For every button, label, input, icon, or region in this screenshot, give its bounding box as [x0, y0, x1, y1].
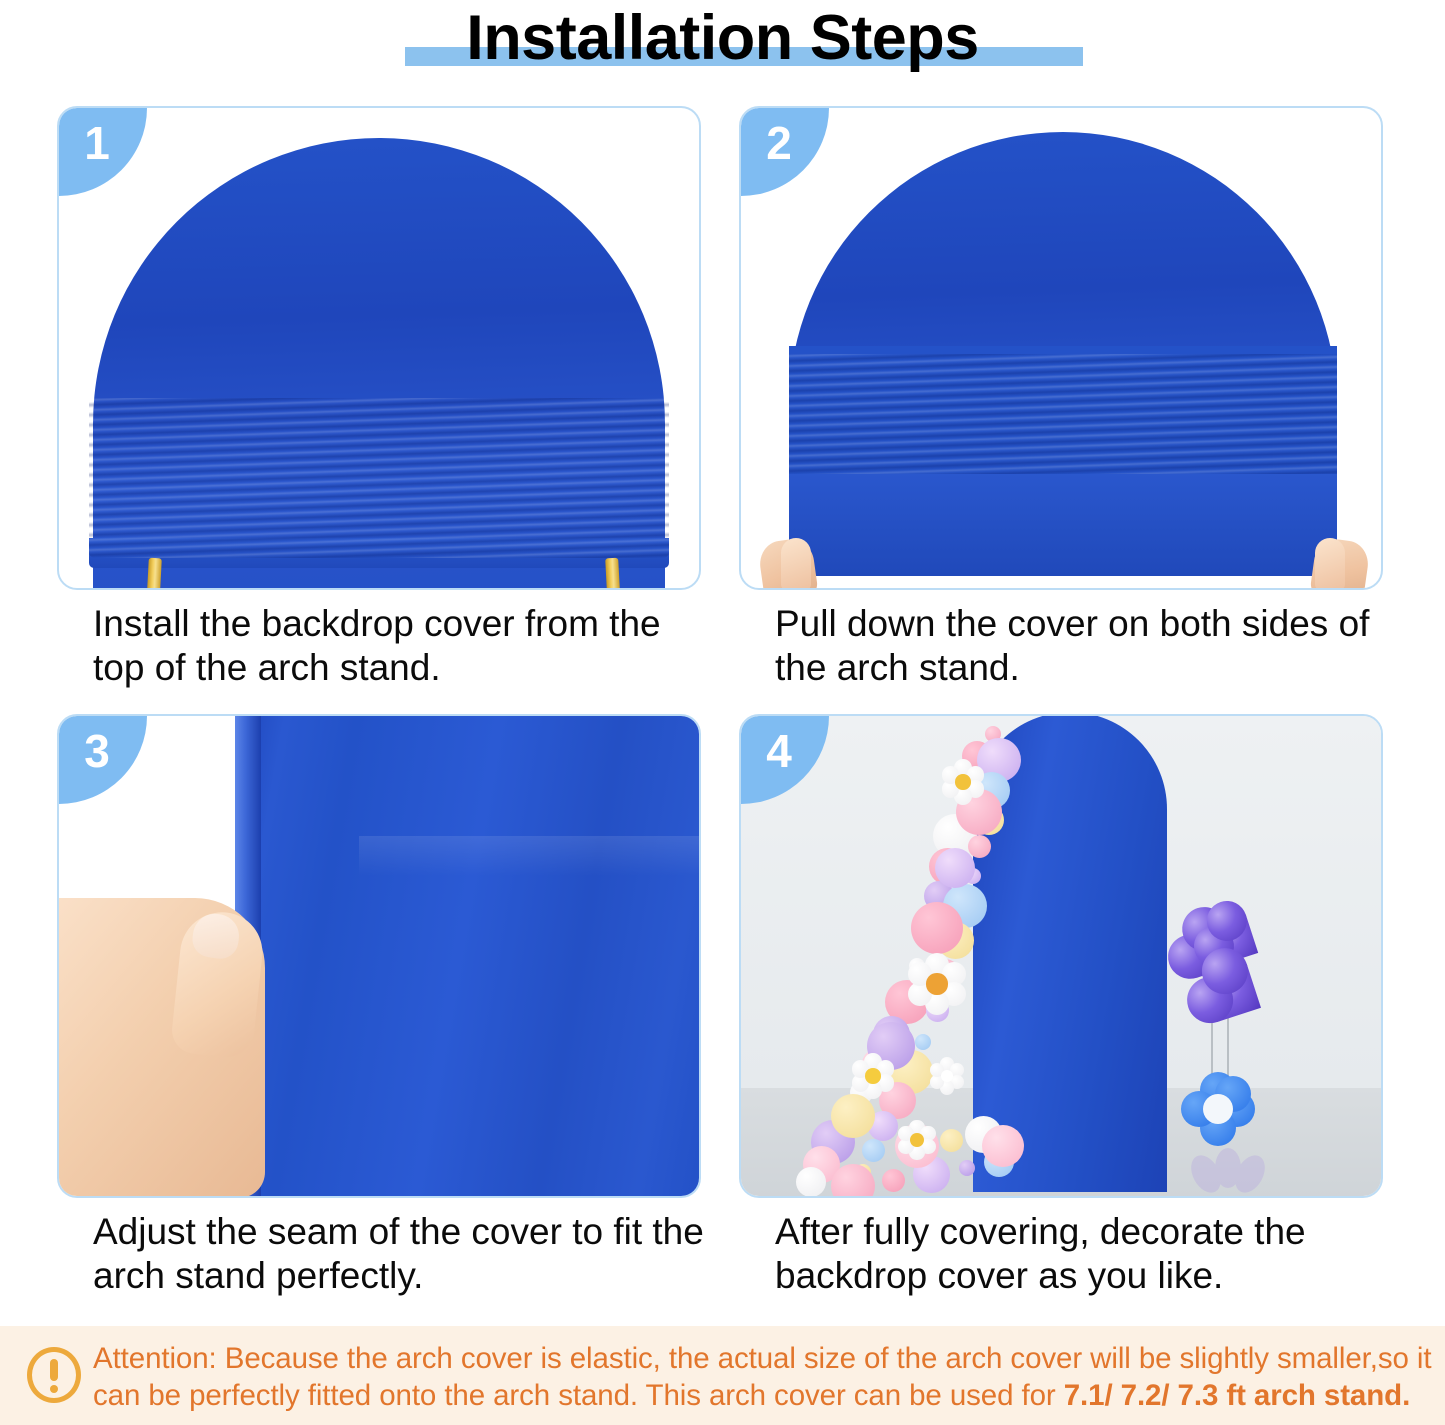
attention-banner: Attention: Because the arch cover is ela… — [0, 1326, 1445, 1425]
step-card-3: 3 Adjust the seam of the cover to fit th… — [57, 714, 705, 1306]
blue-flower-balloon — [1181, 1072, 1255, 1146]
steps-grid: 1 Install the backdrop cover from the to… — [57, 106, 1387, 1306]
fabric-fold — [359, 836, 699, 876]
faded-petal-shadow — [1193, 1148, 1263, 1196]
step-1-photo — [59, 108, 699, 588]
balloon-large — [982, 1125, 1024, 1167]
balloon — [915, 1034, 931, 1050]
balloon — [940, 1129, 963, 1152]
balloon — [862, 1139, 885, 1162]
step-card-1: 1 Install the backdrop cover from the to… — [57, 106, 705, 698]
step-number-2: 2 — [755, 110, 803, 176]
step-number-1: 1 — [73, 110, 121, 176]
cover-fabric — [235, 716, 699, 1196]
balloon-large — [911, 902, 963, 954]
step-4-photo — [741, 716, 1381, 1196]
step-3-caption: Adjust the seam of the cover to fit the … — [93, 1210, 708, 1298]
thumb-left — [781, 538, 811, 588]
arch-cover-hem — [89, 538, 669, 568]
step-3-image-frame: 3 — [57, 714, 701, 1198]
attention-text: Attention: Because the arch cover is ela… — [93, 1340, 1435, 1414]
page-title: Installation Steps — [0, 0, 1445, 76]
balloon-large — [831, 1094, 875, 1138]
step-4-image-frame: 4 — [739, 714, 1383, 1198]
step-4-caption: After fully covering, decorate the backd… — [775, 1210, 1390, 1298]
step-card-4: 4 After fully covering, decorate the bac… — [739, 714, 1387, 1306]
step-number-3: 3 — [73, 718, 121, 784]
step-1-caption: Install the backdrop cover from the top … — [93, 602, 708, 690]
arch-cover-dome — [93, 138, 665, 588]
page-header: Installation Steps — [0, 0, 1445, 86]
balloon — [882, 1169, 905, 1192]
attention-text-bold: 7.1/ 7.2/ 7.3 ft arch stand. — [1064, 1379, 1410, 1412]
step-1-image-frame: 1 — [57, 106, 701, 590]
balloon — [968, 835, 991, 858]
step-2-image-frame: 2 — [739, 106, 1383, 590]
step-3-photo — [59, 716, 699, 1196]
arch-stand-leg-left — [145, 558, 162, 588]
thumb-right — [1315, 538, 1345, 588]
exclamation-circle-icon — [27, 1347, 81, 1403]
room-scene — [741, 716, 1381, 1196]
step-2-caption: Pull down the cover on both sides of the… — [775, 602, 1390, 690]
balloon — [959, 1160, 975, 1176]
arch-cover-hem — [789, 474, 1337, 576]
balloon — [796, 1167, 826, 1196]
step-card-2: 2 Pull down the cover on both sides of t… — [739, 106, 1387, 698]
step-2-photo — [741, 108, 1381, 588]
step-number-4: 4 — [755, 718, 803, 784]
balloon-large — [935, 848, 975, 888]
